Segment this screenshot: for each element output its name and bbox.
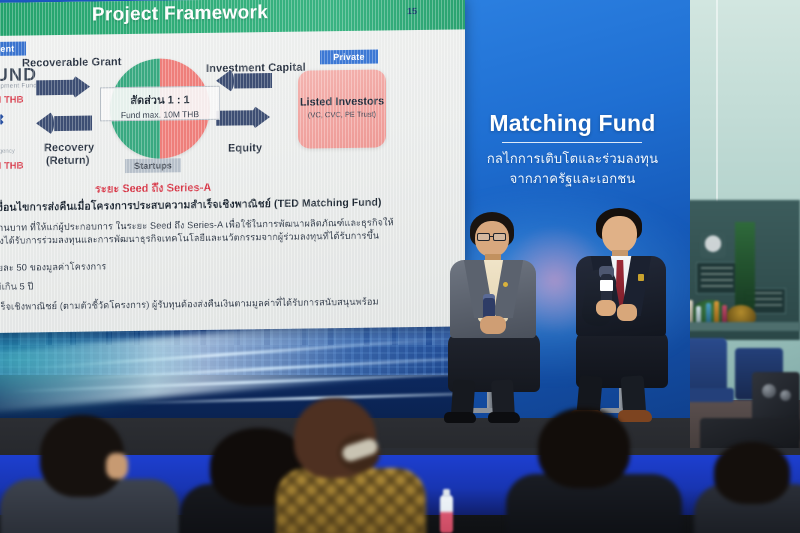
- matching-fund-title: Matching Fund: [455, 110, 690, 137]
- wall-seam: [716, 0, 718, 205]
- audience-1-ear: [106, 453, 128, 479]
- arrow-investment-left-icon: [216, 67, 274, 95]
- body-heading: ทุนอุดหนุนสมทบกำหนดเงื่อนไขการส่งคืนเมื่…: [0, 193, 404, 217]
- glasses-icon: [493, 233, 506, 241]
- water-bottle: [440, 495, 453, 533]
- label-equity: Equity: [228, 142, 262, 154]
- tag-government: Government: [0, 41, 26, 56]
- speaker-left: [442, 212, 552, 427]
- fund-max-value: 5M THB: [0, 160, 24, 171]
- nia-logo-subtitle: National Innovation Agency: [0, 149, 15, 156]
- label-recovery: Recovery: [44, 142, 94, 155]
- audience-member-5: [700, 448, 800, 533]
- menu-board: [696, 262, 738, 294]
- slide-page-number: 15: [407, 6, 417, 16]
- audience-member-3: [282, 398, 412, 533]
- arrow-recovery-left-icon: [36, 110, 94, 138]
- ted-fund-max: Fund max. 5M THB: [0, 94, 24, 106]
- microphone-flag-icon: [600, 280, 613, 291]
- arrow-equity-right-icon: [216, 104, 274, 132]
- av-knob-icon: [780, 390, 791, 401]
- tag-startups: Startups: [125, 158, 181, 173]
- label-recoverable-grant: Recoverable Grant: [22, 56, 122, 69]
- glasses-bridge-icon: [489, 236, 494, 237]
- lapel-pin-icon: [638, 274, 644, 281]
- lapel-pin-icon: [503, 282, 508, 287]
- speaker-right-hand: [617, 304, 637, 321]
- speaker-right-face: [602, 216, 637, 253]
- audience-member-4: [520, 408, 660, 533]
- av-knob-icon: [762, 384, 776, 398]
- speaker-left-shoe: [444, 412, 476, 423]
- body-line: ระยะเวลาดำเนินโครงการ ไม่เกิน 5 ปี: [0, 276, 404, 297]
- label-seed-series-a: ระยะ Seed ถึง Series-A: [95, 178, 211, 198]
- speaker-right: [570, 208, 680, 428]
- audience-4-head: [538, 408, 630, 488]
- listed-investors-box: Listed Investors (VC, CVC, PE Trust): [298, 69, 386, 148]
- ted-logo-subtitle: Technology Development Fund: [0, 82, 37, 90]
- listed-investors-title: Listed Investors: [298, 95, 386, 108]
- multiply-icon: ✖: [0, 111, 5, 129]
- speaker-right-hand: [596, 300, 616, 316]
- water-bottle-cap: [443, 489, 450, 497]
- hanging-plant: [735, 222, 755, 314]
- slide-body: ทุนอุดหนุนสมทบกำหนดเงื่อนไขการส่งคืนเมื่…: [0, 193, 404, 342]
- screenshot-root: Matching Fund กลไกการเติบโตและร่วมลงทุน …: [0, 0, 800, 533]
- audience-5-head: [714, 442, 790, 504]
- ratio-callout: สัดส่วน 1 : 1 Fund max. 10M THB: [100, 86, 220, 122]
- ratio-fund-max: Fund max. 10M THB: [101, 109, 219, 121]
- nia-fund-max: Fund max. 5M THB: [0, 160, 24, 172]
- matching-fund-subtitle-1: กลไกการเติบโตและร่วมลงทุน: [455, 148, 690, 169]
- audience-3-dress: [276, 468, 426, 533]
- speaker-left-shoe: [488, 412, 520, 423]
- projected-slide: Project Framework 15 Government TED FUND…: [0, 0, 465, 334]
- tag-private: Private: [320, 50, 378, 65]
- speaker-left-hands: [480, 316, 506, 334]
- fund-max-value: 5M THB: [0, 94, 24, 105]
- title-divider: [502, 142, 642, 143]
- matching-fund-subtitle-2: จากภาครัฐและเอกชน: [455, 168, 690, 189]
- ratio-text: สัดส่วน 1 : 1: [101, 90, 219, 110]
- arrow-grant-right-icon: [36, 74, 94, 102]
- bar-logo-icon: [700, 232, 726, 258]
- audience-member-1: [10, 415, 160, 533]
- listed-investors-subtitle: (VC, CVC, PE Trust): [298, 109, 386, 119]
- label-recovery-return: (Return): [46, 155, 90, 168]
